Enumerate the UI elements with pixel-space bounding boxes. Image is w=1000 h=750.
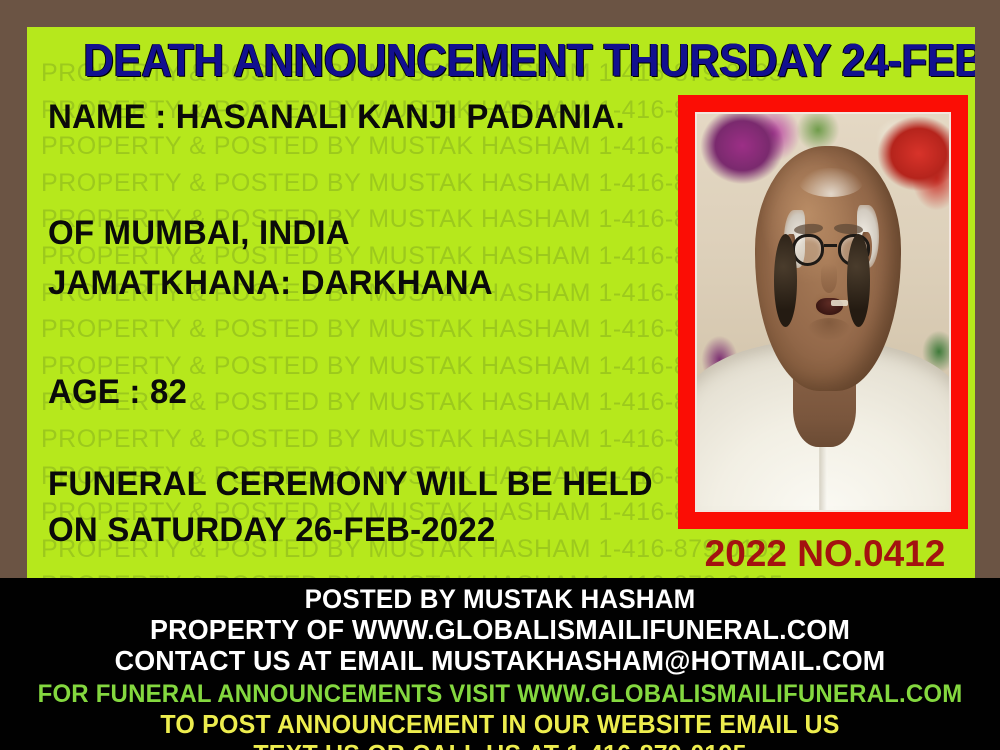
footer-property-of: PROPERTY OF WWW.GLOBALISMAILIFUNERAL.COM — [20, 614, 980, 645]
footer-phone: TEXT US OR CALL US AT 1-416-879-0195 — [20, 739, 980, 750]
reference-number: 2022 NO.0412 — [675, 533, 975, 575]
eyeglass-lens-left — [792, 234, 825, 266]
photo-chin — [808, 318, 850, 340]
photo-hair-top — [799, 168, 863, 197]
deceased-name-line: NAME : HASANALI KANJI PADANIA. — [48, 97, 625, 137]
announcement-content: DEATH ANNOUNCEMENT THURSDAY 24-FEB-2022 … — [27, 27, 975, 578]
announcement-panel: PROPERTY & POSTED BY MUSTAK HASHAM 1-416… — [27, 27, 975, 578]
photo-teeth — [831, 300, 849, 305]
photo-eye-right — [847, 234, 870, 327]
photo-eye-left — [774, 234, 797, 327]
footer-post-announcement: TO POST ANNOUNCEMENT IN OUR WEBSITE EMAI… — [20, 709, 980, 739]
footer-posted-by: POSTED BY MUSTAK HASHAM — [20, 578, 980, 614]
funeral-ceremony-line-1: FUNERAL CEREMONY WILL BE HELD — [48, 464, 653, 504]
death-announcement-poster: PROPERTY & POSTED BY MUSTAK HASHAM 1-416… — [0, 0, 1000, 750]
footer-contact-email: CONTACT US AT EMAIL MUSTAKHASHAM@HOTMAIL… — [20, 645, 980, 676]
photo-nose — [821, 264, 837, 293]
deceased-city-line: OF MUMBAI, INDIA — [48, 213, 350, 253]
portrait-photo-frame — [678, 95, 968, 529]
page-title: DEATH ANNOUNCEMENT THURSDAY 24-FEB-2022 — [83, 32, 920, 88]
funeral-ceremony-line-2: ON SATURDAY 26-FEB-2022 — [48, 510, 495, 550]
photo-head — [755, 146, 901, 392]
jamatkhana-line: JAMATKHANA: DARKHANA — [48, 263, 493, 303]
portrait-photo — [695, 112, 951, 512]
deceased-age-line: AGE : 82 — [48, 372, 187, 412]
eyeglass-bridge — [824, 244, 837, 247]
footer-visit-website: FOR FUNERAL ANNOUNCEMENTS VISIT WWW.GLOB… — [20, 676, 980, 709]
footer-contact-band: POSTED BY MUSTAK HASHAM PROPERTY OF WWW.… — [0, 578, 1000, 750]
